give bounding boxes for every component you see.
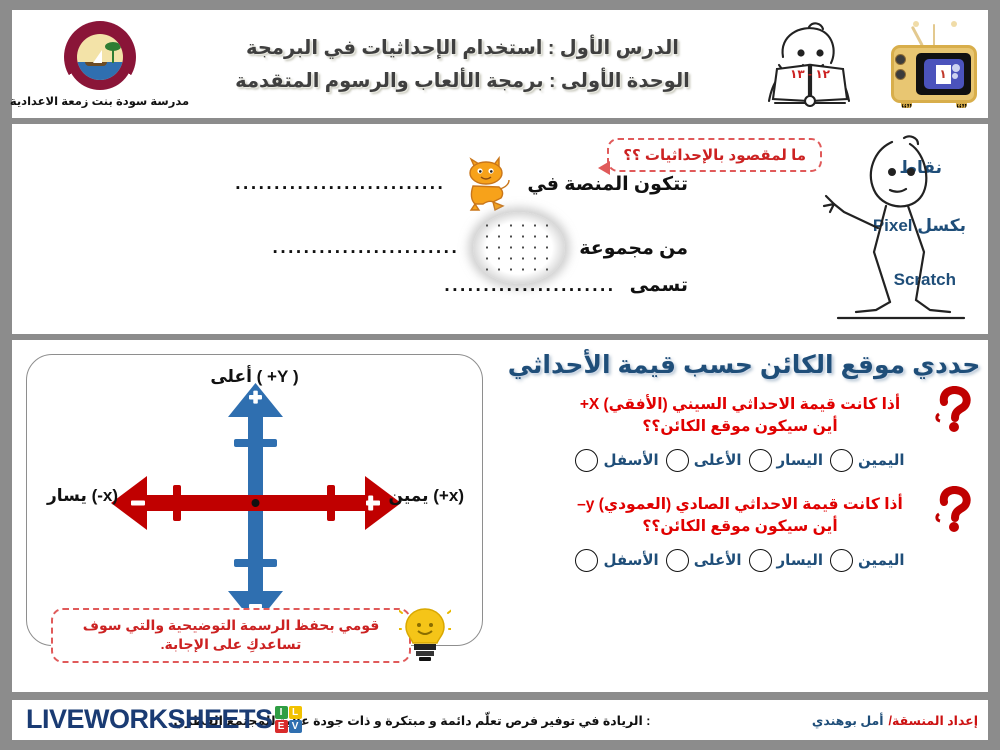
option-1-2-radio[interactable] — [666, 549, 689, 572]
lightbulb-icon — [399, 603, 451, 661]
option-1-0[interactable]: اليمين — [830, 549, 905, 572]
locate-object-section: حددي موقع الكائن حسب قيمة الأحداثي أذا ك… — [12, 340, 988, 692]
footer-divider — [12, 692, 988, 696]
header-illustrations: ١ — [738, 10, 988, 118]
blank-row-1-text: من مجموعة — [579, 237, 688, 260]
option-0-2[interactable]: الأعلى — [666, 449, 742, 472]
option-0-1-label: اليسار — [777, 451, 823, 469]
tv-channel-number: ١ — [936, 65, 951, 84]
option-1-1[interactable]: اليسار — [749, 549, 823, 572]
lw-block-l: L — [289, 706, 302, 719]
liveworksheets-wordmark: LIVEWORKSHEETS — [26, 704, 273, 735]
question-mark-icon — [934, 386, 976, 434]
axis-label-top: ( Y+ ) أعلى — [210, 367, 298, 387]
questions-column: حددي موقع الكائن حسب قيمة الأحداثي أذا ك… — [500, 340, 988, 692]
prepared-by-name: أمل بوهندي — [812, 713, 884, 728]
option-1-3-label: الأسفل — [603, 551, 658, 569]
tv-antenna-icon — [934, 24, 935, 25]
lw-block-i: I — [275, 706, 288, 719]
option-0-3-label: الأسفل — [603, 451, 658, 469]
liveworksheets-blocks-icon: L I V E — [275, 706, 302, 733]
option-1-3-radio[interactable] — [575, 549, 598, 572]
option-1-2-label: الأعلى — [694, 551, 742, 569]
option-1-1-radio[interactable] — [749, 549, 772, 572]
option-0-0-label: اليمين — [858, 451, 905, 469]
option-1-2[interactable]: الأعلى — [666, 549, 742, 572]
option-0-1-radio[interactable] — [749, 449, 772, 472]
header-titles: الدرس الأول : استخدام الإحداثيات في البر… — [187, 36, 738, 93]
option-0-0[interactable]: اليمين — [830, 449, 905, 472]
coordinate-axes-diagram: ( Y+ ) أعلى ( Y - ) أسفل (x+) يمين (x-) … — [27, 355, 482, 645]
blank-row-1-dots: ........................ — [273, 237, 460, 259]
question-0-line-2: أين سيكون موقع الكائن؟؟ — [510, 416, 970, 438]
blank-row-0-dots: ........................... — [235, 173, 445, 195]
bubble-question-text: ما لمقصود بالإحداثيات ؟؟ — [623, 147, 806, 164]
option-1-0-radio[interactable] — [830, 549, 853, 572]
school-name: مدرسة سودة بنت زمعة الاعدادية — [10, 94, 189, 108]
question-1: أذا كانت قيمة الاحداثي الصادي (العمودي) … — [500, 494, 988, 572]
option-1-3[interactable]: الأسفل — [575, 549, 658, 572]
axis-label-right: (x+) يمين — [389, 486, 464, 506]
question-mark-icon — [934, 486, 976, 534]
section-title: حددي موقع الكائن حسب قيمة الأحداثي — [508, 350, 981, 380]
blank-row-2-dots: ...................... — [444, 275, 615, 297]
thinking-student-icon: ما لمقصود بالإحداثيات ؟؟ — [804, 132, 974, 328]
tv-teams-icon: ١ — [891, 25, 977, 103]
question-1-text: أذا كانت قيمة الاحداثي الصادي (العمودي) … — [510, 494, 970, 539]
reading-student-icon: ١٢ - ١٣ — [749, 21, 869, 107]
speech-bubble: ما لمقصود بالإحداثيات ؟؟ — [607, 138, 822, 172]
axis-label-left: (x-) يسار — [47, 486, 118, 506]
coordinate-diagram-card: ( Y+ ) أعلى ( Y - ) أسفل (x+) يمين (x-) … — [26, 354, 483, 646]
option-0-3[interactable]: الأسفل — [575, 449, 658, 472]
option-1-0-label: اليمين — [858, 551, 905, 569]
blank-row-0-text: تتكون المنصة في — [527, 173, 688, 196]
question-1-line-1: أذا كانت قيمة الاحداثي الصادي (العمودي) … — [510, 494, 970, 516]
hint-bubble: قومي بحفظ الرسمة التوضيحية والتي سوف تسا… — [51, 608, 411, 663]
unit-title: الوحدة الأولى : برمجة الألعاب والرسوم ال… — [235, 69, 690, 93]
question-1-line-2: أين سيكون موقع الكائن؟؟ — [510, 516, 970, 538]
blank-row-2-text: تسمى — [630, 274, 688, 297]
coordinates-definition-section: نقاط بكسل Pixel Scratch تتكون المنصة في — [12, 124, 988, 334]
blank-row-2: تسمى ...................... — [444, 274, 688, 297]
option-0-1[interactable]: اليسار — [749, 449, 823, 472]
scratch-cat-icon — [459, 156, 513, 212]
liveworksheets-watermark: L I V E LIVEWORKSHEETS — [26, 704, 302, 735]
school-identity: مدرسة سودة بنت زمعة الاعدادية — [12, 10, 187, 118]
option-0-2-label: الأعلى — [694, 451, 742, 469]
question-0-options: اليمين اليسار الأعلى الأسفل — [510, 449, 970, 472]
book-page-numbers: ١٢ - ١٣ — [780, 67, 840, 81]
question-0-line-1: أذا كانت قيمة الاحداثي السيني (الأفقي) X… — [510, 394, 970, 416]
option-0-0-radio[interactable] — [830, 449, 853, 472]
option-0-3-radio[interactable] — [575, 449, 598, 472]
worksheet-footer: إعداد المنسقة/ أمل بوهندي : الريادة في ت… — [12, 700, 988, 740]
question-0: أذا كانت قيمة الاحداثي السيني (الأفقي) X… — [500, 394, 988, 472]
lw-block-e: E — [275, 720, 288, 733]
lesson-title: الدرس الأول : استخدام الإحداثيات في البر… — [246, 36, 679, 60]
lw-block-v: V — [289, 720, 302, 733]
option-1-1-label: اليسار — [777, 551, 823, 569]
question-1-options: اليمين اليسار الأعلى الأسفل — [510, 549, 970, 572]
microsoft-teams-icon: ١ — [924, 59, 964, 89]
option-0-2-radio[interactable] — [666, 449, 689, 472]
worksheet-header: ١ — [12, 10, 988, 118]
hint-container: قومي بحفظ الرسمة التوضيحية والتي سوف تسا… — [51, 608, 411, 663]
question-0-text: أذا كانت قيمة الاحداثي السيني (الأفقي) X… — [510, 394, 970, 439]
qatar-emblem-icon — [64, 21, 136, 93]
prepared-by-label: إعداد المنسقة/ — [889, 713, 978, 728]
worksheet-page: ١ — [0, 0, 1000, 750]
prepared-by: إعداد المنسقة/ أمل بوهندي — [812, 713, 988, 728]
